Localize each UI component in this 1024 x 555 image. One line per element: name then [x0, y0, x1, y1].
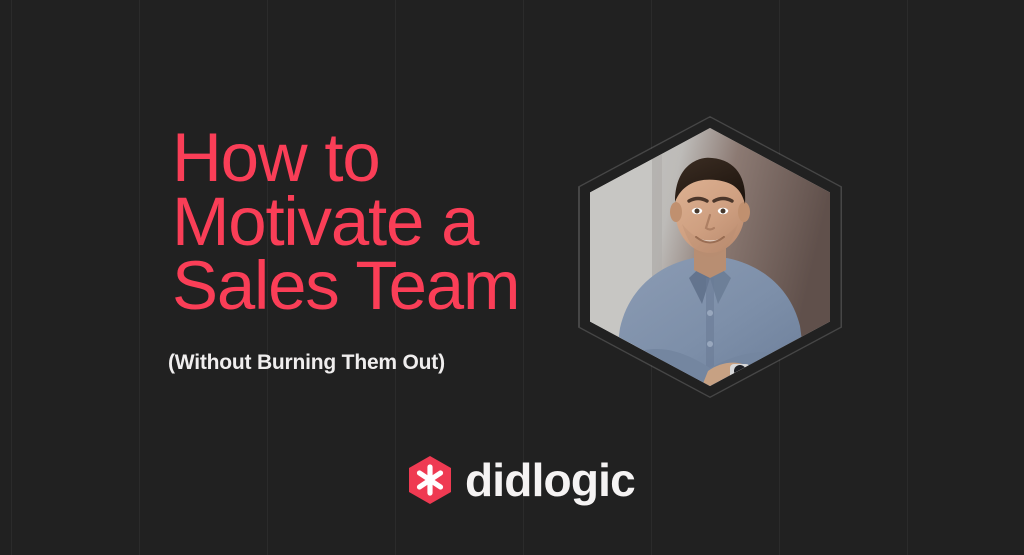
headline-line-3: Sales Team [172, 254, 572, 318]
brand-logo[interactable]: didlogic [409, 456, 635, 504]
page-title: How to Motivate a Sales Team [172, 126, 572, 318]
didlogic-hexagon-asterisk-icon [409, 456, 451, 504]
portrait-hexagon [578, 116, 842, 398]
headline-line-1: How to [172, 126, 572, 190]
brand-logo-text: didlogic [465, 457, 635, 503]
headline-line-2: Motivate a [172, 190, 572, 254]
page-subtitle: (Without Burning Them Out) [168, 350, 445, 376]
social-card-canvas: How to Motivate a Sales Team (Without Bu… [0, 0, 1024, 555]
